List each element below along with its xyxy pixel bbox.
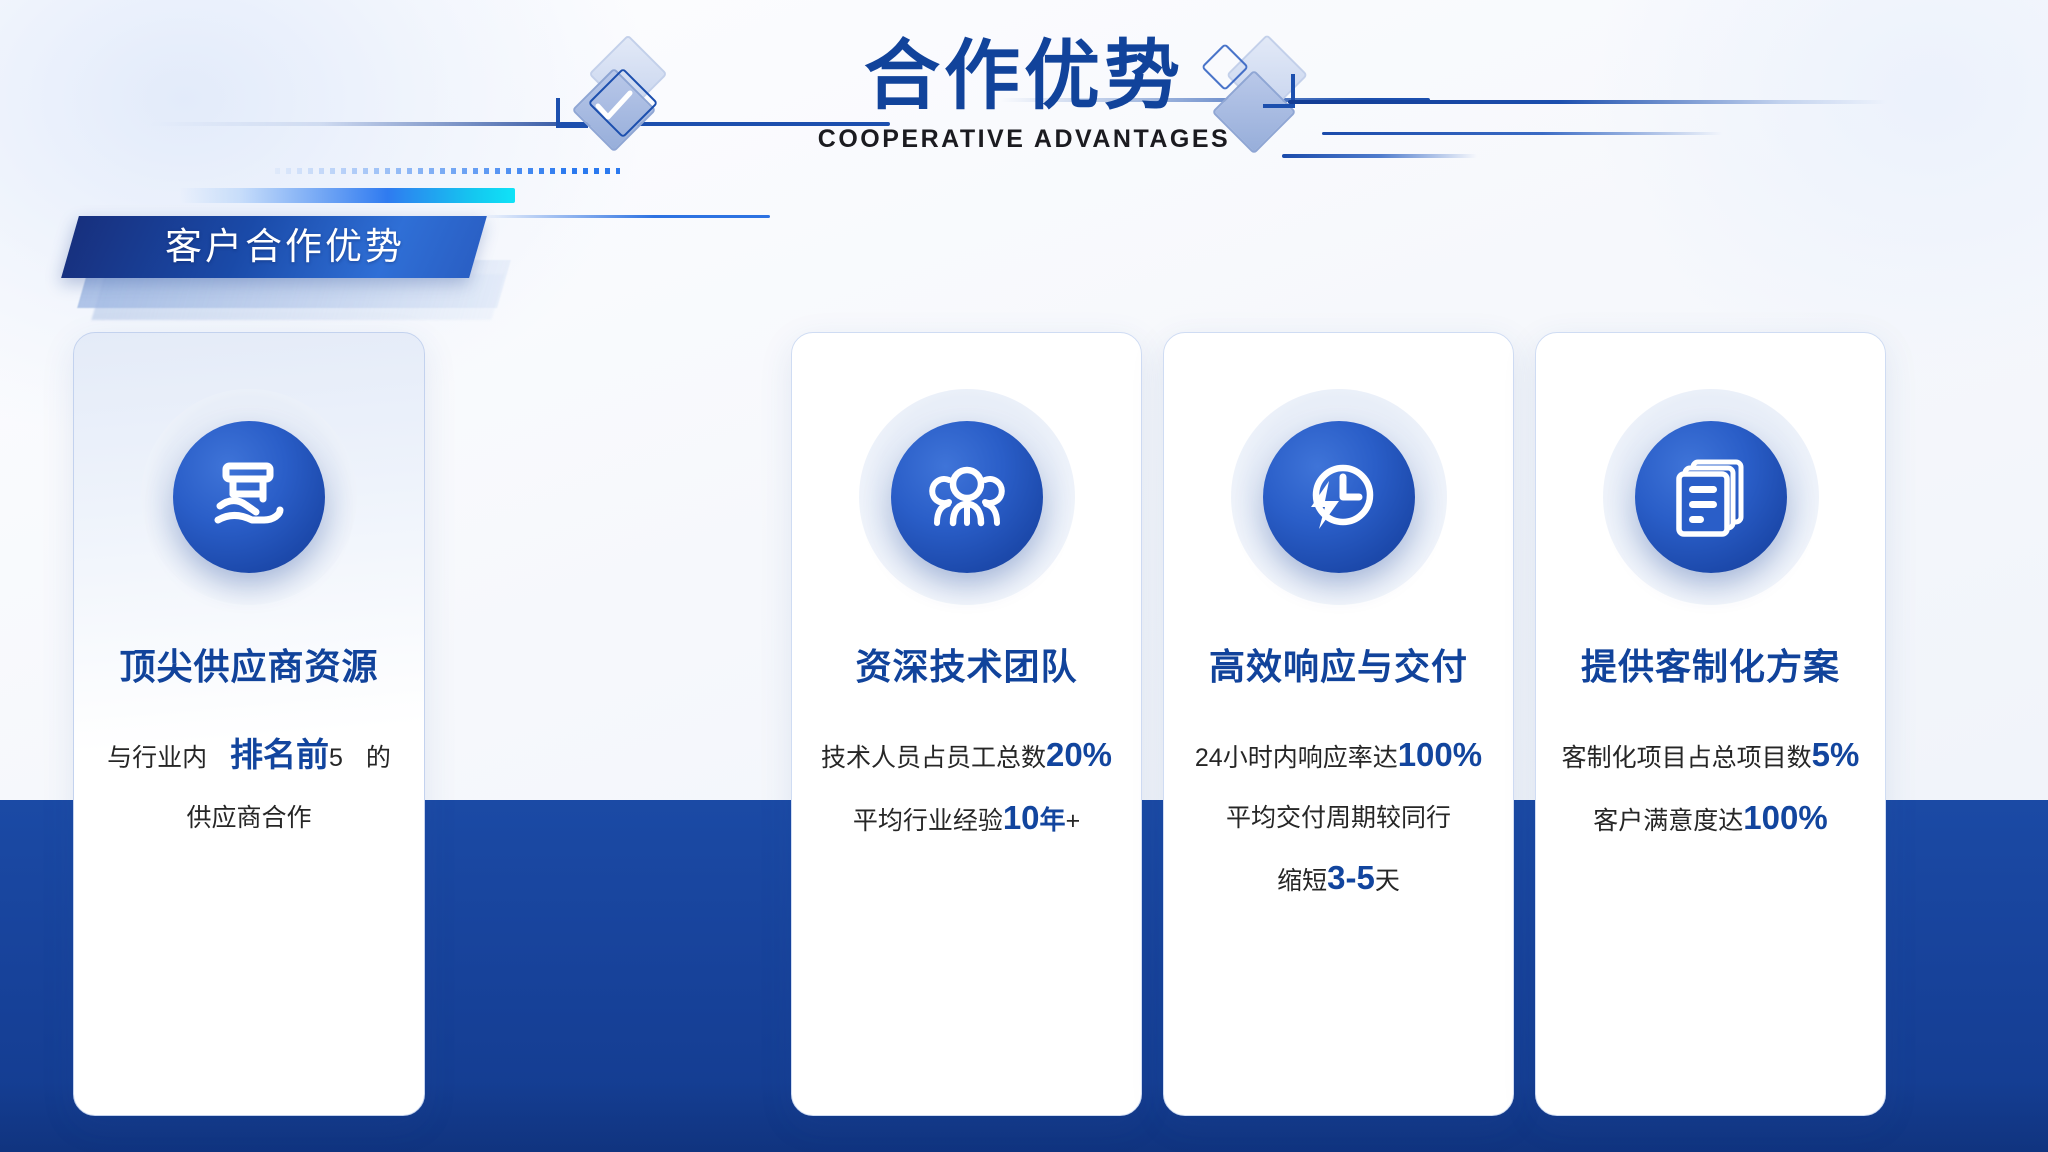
card-line-part: 缩短 [1277,867,1327,895]
card-line-part: 客户满意度达 [1593,807,1743,835]
card-line: 24小时内响应率达100% [1174,725,1503,788]
advantage-card[interactable]: 资深技术团队 技术人员占员工总数20% 平均行业经验10年+ [791,332,1142,1116]
card-line-part: 24 [1195,744,1223,772]
card-line: 供应商合作 [84,788,414,848]
card-line-highlight: 排名前 [230,736,329,773]
card-line-highlight: 100% [1743,799,1827,836]
team-group-icon [891,421,1043,573]
card-title: 高效响应与交付 [1164,645,1513,689]
card-line-highlight: 20% [1046,736,1112,773]
card-line: 缩短3-5天 [1174,848,1503,911]
card-line-part: + [1066,807,1081,835]
card-body: 技术人员占员工总数20% 平均行业经验10年+ [802,725,1131,851]
card-line-highlight: 3-5 [1327,859,1375,896]
card-line-highlight: 5% [1812,736,1860,773]
card-line-highlight-unit: 年 [1040,805,1066,835]
card-line: 客制化项目占总项目数5% [1546,725,1875,788]
card-title: 提供客制化方案 [1536,645,1885,689]
hand-holding-box-icon [173,421,325,573]
card-line-part: 客制化项目占总项目数 [1562,744,1812,772]
card-line: 客户满意度达100% [1546,788,1875,851]
card-line-part: 5 [329,744,343,772]
clock-bolt-icon [1263,421,1415,573]
card-body: 24小时内响应率达100% 平均交付周期较同行 缩短3-5天 [1174,725,1503,911]
card-line-part: 技术人员占员工总数 [821,744,1046,772]
card-line: 与行业内 排名前5 的 [84,725,414,788]
card-title: 资深技术团队 [792,645,1141,689]
card-body: 与行业内 排名前5 的 供应商合作 [84,725,414,848]
card-line-part: 供应商合作 [186,804,311,832]
documents-stack-icon [1635,421,1787,573]
card-line-part: 平均交付周期较同行 [1226,804,1451,832]
advantage-card[interactable]: 高效响应与交付 24小时内响应率达100% 平均交付周期较同行 缩短3-5天 [1163,332,1514,1116]
slide-canvas: 合作优势 COOPERATIVE ADVANTAGES 客户合作优势 [0,0,2048,1152]
advantage-card[interactable]: 顶尖供应商资源 与行业内 排名前5 的 供应商合作 [73,332,425,1116]
card-body: 客制化项目占总项目数5% 客户满意度达100% [1546,725,1875,851]
card-line-part: 小时内响应率达 [1223,744,1398,772]
card-title: 顶尖供应商资源 [74,645,424,689]
card-line: 技术人员占员工总数20% [802,725,1131,788]
card-line: 平均交付周期较同行 [1174,788,1503,848]
card-line: 平均行业经验10年+ [802,788,1131,851]
card-line-part: 平均行业经验 [853,807,1003,835]
advantage-card[interactable]: 提供客制化方案 客制化项目占总项目数5% 客户满意度达100% [1535,332,1886,1116]
card-line-part: 与行业内 [107,744,207,772]
advantage-card-list: 顶尖供应商资源 与行业内 排名前5 的 供应商合作 [0,0,2048,1152]
card-line-highlight: 100% [1398,736,1482,773]
card-line-part: 的 [366,744,391,772]
card-line-part: 天 [1375,867,1400,895]
card-line-highlight: 10 [1003,799,1040,836]
